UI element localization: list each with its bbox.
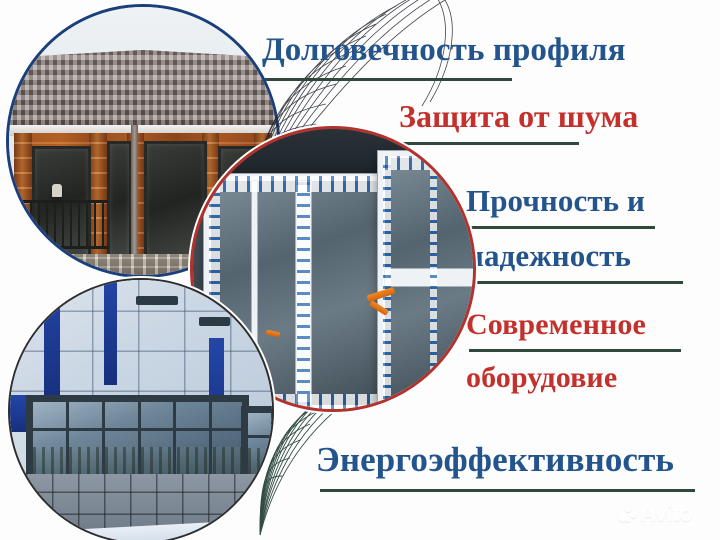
avito-wordmark: Avito bbox=[640, 501, 692, 527]
headline-strength-line2: надежность bbox=[466, 238, 631, 274]
avito-logo-icon bbox=[619, 506, 636, 523]
headline-equipment-line1: Современное bbox=[466, 308, 646, 342]
veka-protective-film bbox=[430, 158, 437, 399]
veka-protective-film bbox=[211, 176, 396, 192]
facade-vent-grille bbox=[136, 296, 178, 305]
headline-durability: Долговечность профиля bbox=[262, 32, 626, 69]
headline-strength-line1: Прочность и bbox=[466, 183, 645, 219]
photo-building-facade bbox=[8, 278, 274, 540]
veka-protective-film bbox=[385, 156, 476, 170]
promo-banner: Долговечность профиля Защита от шума Про… bbox=[0, 0, 720, 540]
pvc-window-unit-stacked bbox=[378, 151, 476, 406]
blue-accent-panel bbox=[8, 395, 26, 432]
veka-protective-film bbox=[297, 181, 310, 405]
avito-watermark: Avito bbox=[619, 501, 692, 527]
metal-tile-roof bbox=[6, 50, 280, 130]
headline-rule bbox=[469, 281, 683, 284]
blue-accent-panel bbox=[44, 278, 60, 406]
headline-energy-efficiency: Энергоэффективность bbox=[316, 440, 674, 480]
balcony-railing bbox=[22, 200, 108, 249]
wall-lamp bbox=[52, 184, 62, 197]
house-window bbox=[107, 141, 132, 268]
veka-protective-film bbox=[383, 158, 391, 399]
headline-rule bbox=[320, 489, 695, 492]
headline-rule bbox=[469, 226, 655, 229]
drain-pipe bbox=[131, 125, 138, 264]
headline-equipment-line2: оборудовие bbox=[466, 361, 617, 395]
headline-rule bbox=[265, 78, 512, 81]
blue-accent-panel bbox=[104, 278, 117, 385]
facade-vent-grille bbox=[199, 317, 230, 326]
headline-rule bbox=[469, 349, 681, 352]
